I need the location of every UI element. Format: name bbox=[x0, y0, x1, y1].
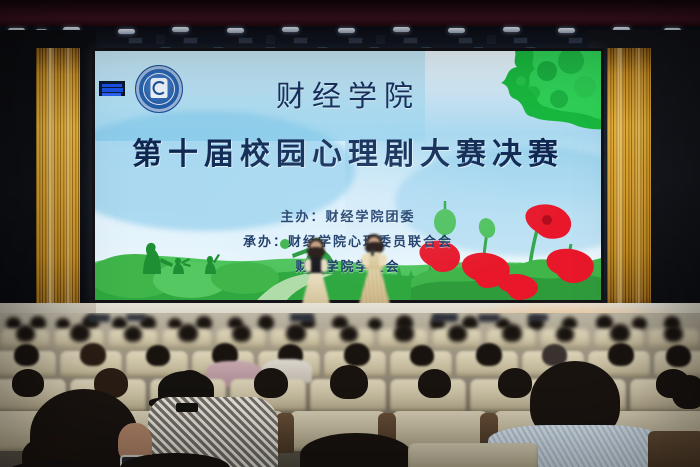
audience-device bbox=[126, 314, 146, 321]
audience-device bbox=[432, 313, 458, 322]
organizer-line-2: 承办：财经学院心理委员联合会 bbox=[95, 231, 601, 250]
audience-head bbox=[666, 345, 691, 367]
screen-subtitle: 第十届校园心理剧大赛决赛 bbox=[95, 129, 601, 173]
auditorium-scene: 财经学院 第十届校园心理剧大赛决赛 主办：财经学院团委 承办：财经学院心理委员联… bbox=[0, 0, 700, 467]
audience-head bbox=[664, 325, 683, 342]
audience-head bbox=[232, 325, 251, 342]
audience-head bbox=[80, 343, 106, 366]
audience-head bbox=[608, 343, 634, 366]
audience-head bbox=[502, 324, 522, 342]
audience-seat-back bbox=[648, 431, 700, 467]
audience-head bbox=[330, 365, 368, 399]
performer-right bbox=[352, 234, 396, 308]
audience-head bbox=[418, 369, 451, 398]
audience-head bbox=[394, 324, 414, 342]
audience-head bbox=[340, 326, 358, 342]
audience-head bbox=[476, 343, 502, 366]
coat-label-tag bbox=[176, 403, 198, 412]
performer-left bbox=[296, 238, 336, 308]
organizer-line-1: 主办：财经学院团委 bbox=[95, 206, 601, 225]
audience-head bbox=[448, 325, 467, 342]
organizer-line-3: 财经学院学生会 bbox=[95, 256, 601, 275]
audience-head bbox=[12, 369, 44, 397]
audience-device bbox=[528, 314, 548, 321]
screen-title: 财经学院 bbox=[95, 73, 601, 115]
audience-area bbox=[0, 313, 700, 467]
audience-head bbox=[672, 375, 700, 409]
audience-head bbox=[146, 345, 170, 366]
microphone-icon bbox=[371, 249, 374, 256]
audience-head bbox=[124, 326, 142, 342]
audience-head bbox=[16, 325, 35, 342]
audience-head bbox=[410, 345, 434, 366]
audience-head bbox=[196, 316, 212, 330]
audience-head bbox=[498, 368, 532, 398]
audience-device bbox=[478, 314, 500, 322]
audience-head bbox=[344, 343, 370, 366]
audience-head bbox=[258, 315, 274, 330]
audience-seat bbox=[408, 443, 538, 467]
audience-head bbox=[254, 368, 288, 398]
audience-device bbox=[88, 314, 110, 322]
audience-head bbox=[70, 324, 90, 342]
led-stage-screen: 财经学院 第十届校园心理剧大赛决赛 主办：财经学院团委 承办：财经学院心理委员联… bbox=[92, 48, 604, 303]
stage-curtain-right bbox=[607, 48, 651, 308]
audience-head bbox=[286, 324, 306, 342]
audience-device bbox=[290, 313, 314, 322]
stage-curtain-left bbox=[36, 48, 80, 313]
audience-head bbox=[556, 326, 574, 342]
audience-head bbox=[14, 344, 39, 366]
audience-head bbox=[610, 324, 630, 342]
audience-head bbox=[368, 318, 382, 330]
audience-head bbox=[178, 324, 198, 342]
audience-seat-back bbox=[276, 413, 294, 453]
